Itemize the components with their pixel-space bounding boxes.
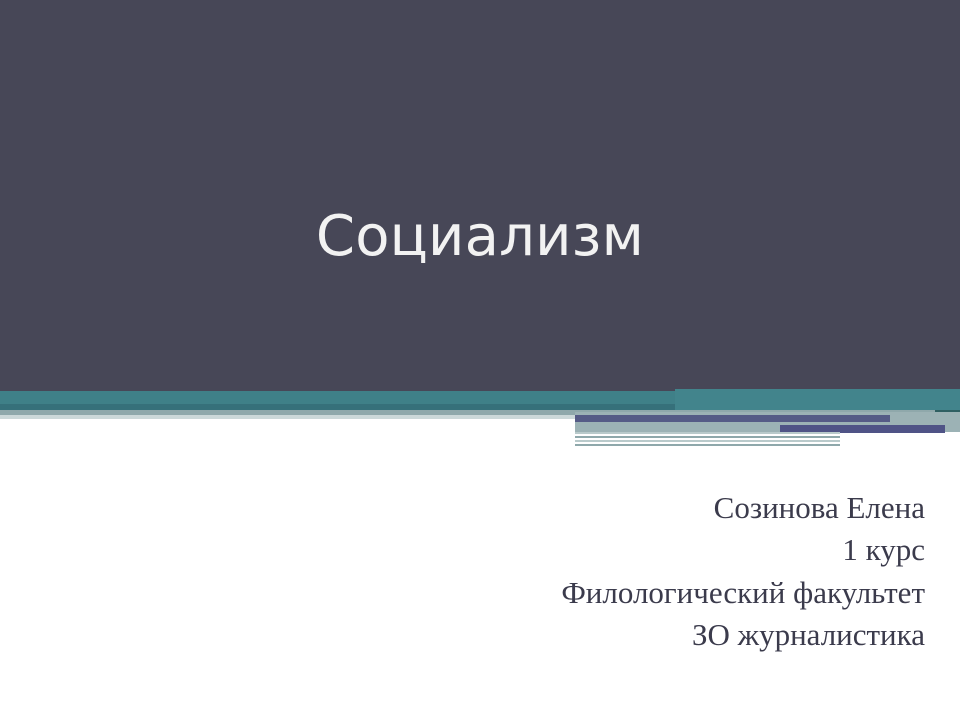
band-bar-indigo-upper: [575, 415, 890, 422]
subtitle-line-year: 1 курс: [405, 529, 925, 571]
decorative-band: [0, 388, 960, 450]
band-gap-left: [0, 419, 575, 450]
subtitle-line-department: ЗО журналистика: [405, 614, 925, 656]
band-hairline-8: [575, 446, 840, 448]
slide-subtitle: Созинова Елена 1 курс Филологический фак…: [405, 487, 925, 657]
band-block-teal-right: [675, 389, 960, 410]
subtitle-line-faculty: Филологический факультет: [405, 572, 925, 614]
subtitle-line-author: Созинова Елена: [405, 487, 925, 529]
title-panel-background: [0, 0, 960, 391]
slide-title: Социализм: [0, 206, 960, 268]
title-slide: Социализм Созинова Елена 1 курс Филологи…: [0, 0, 960, 720]
